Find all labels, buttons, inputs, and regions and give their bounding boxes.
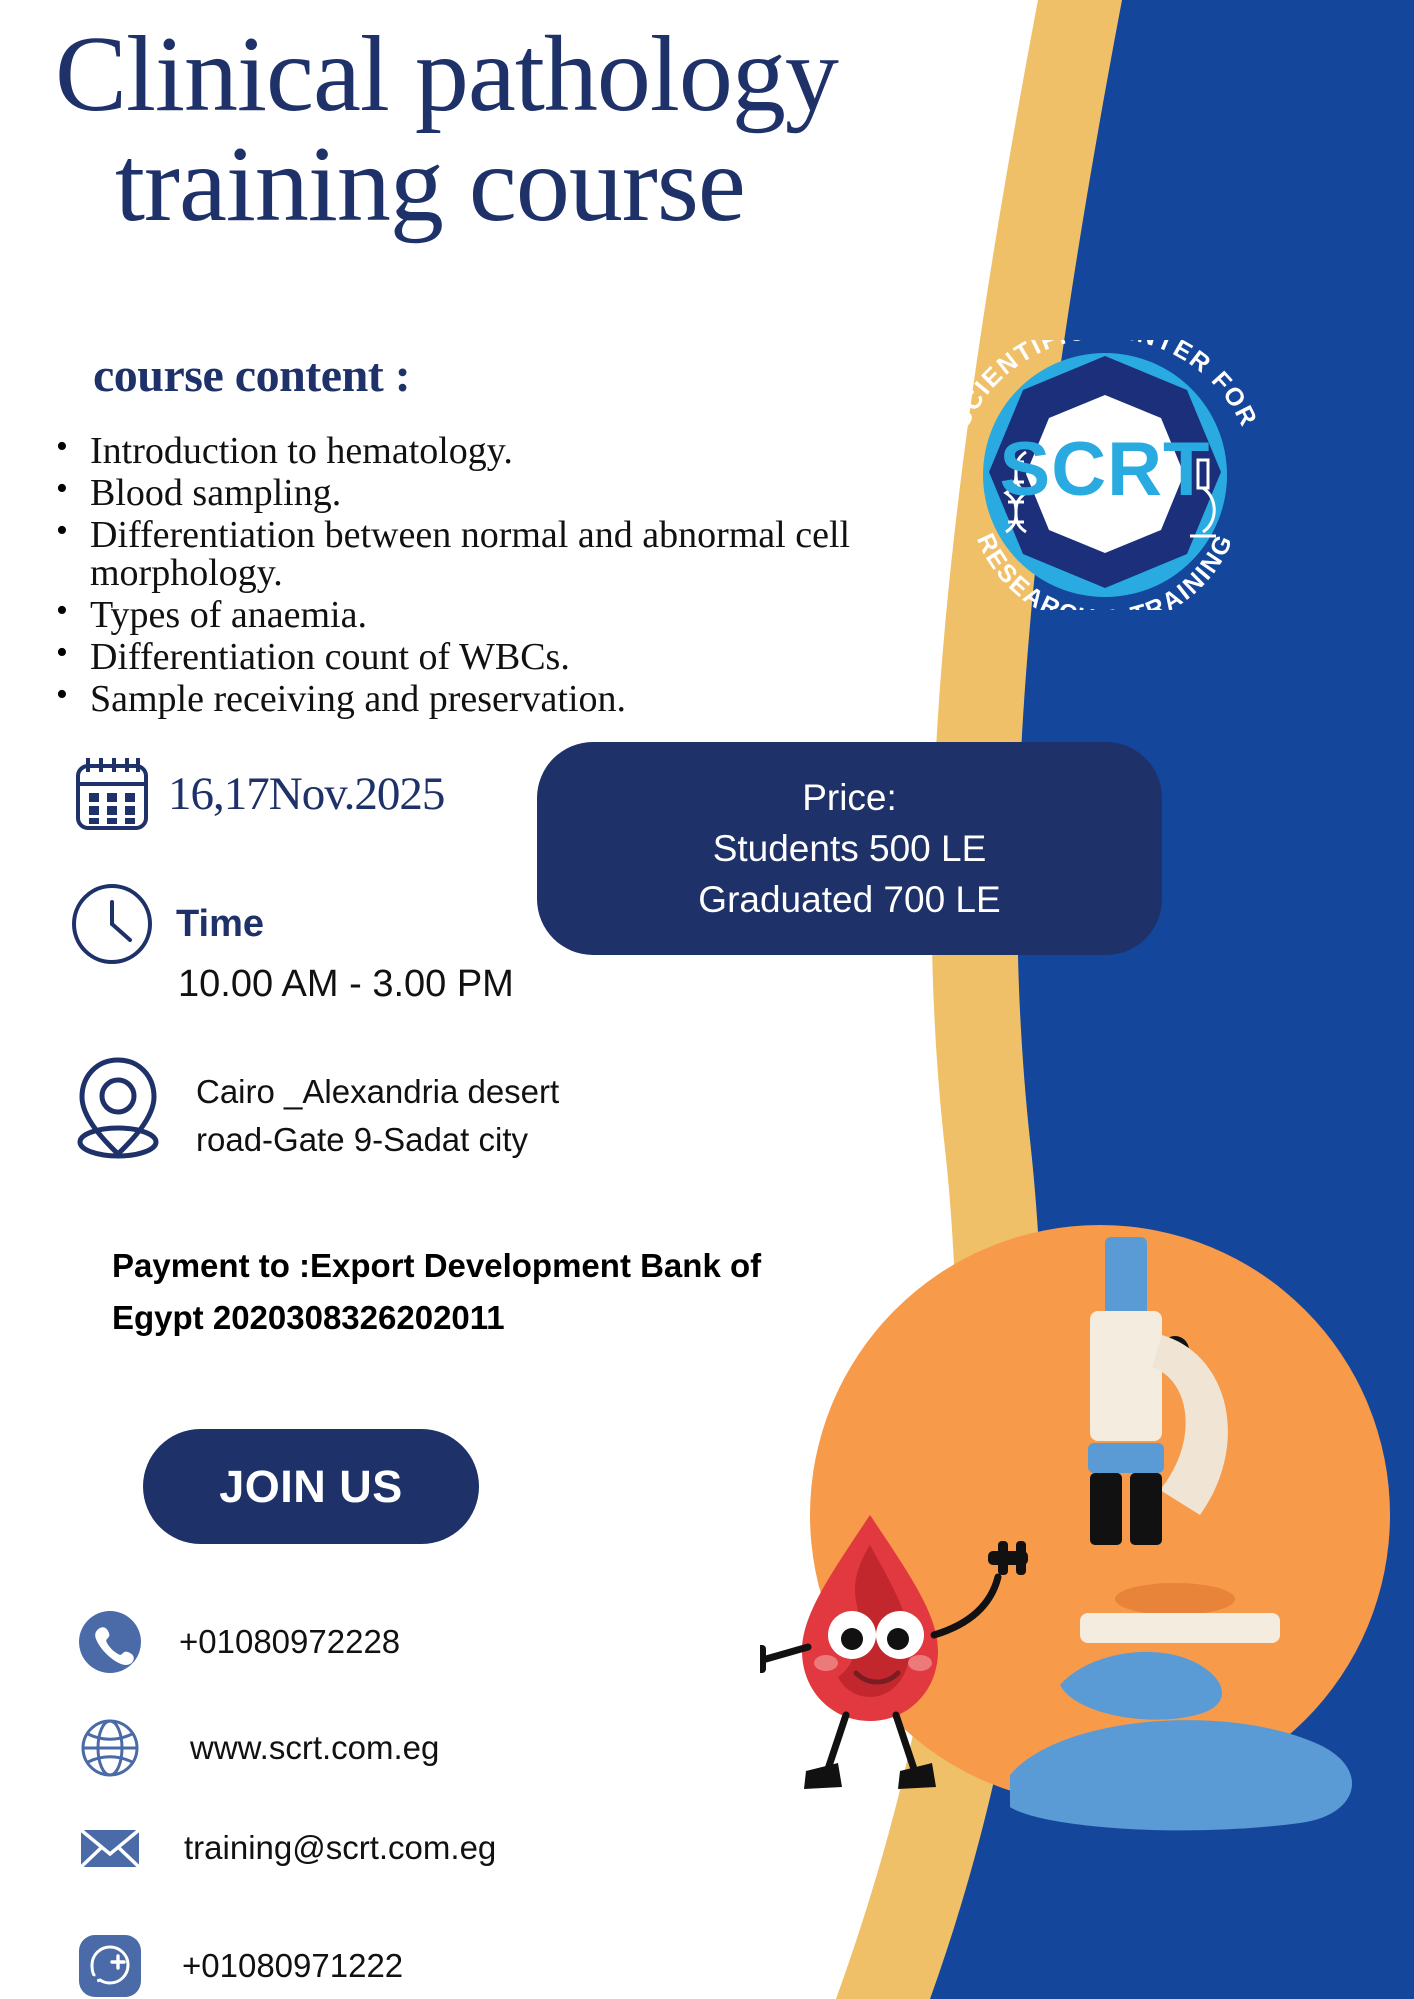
clock-icon bbox=[68, 880, 156, 968]
join-us-button[interactable]: JOIN US bbox=[143, 1429, 479, 1544]
envelope-icon bbox=[78, 1816, 142, 1880]
contact-row-email[interactable]: training@scrt.com.eg bbox=[78, 1801, 598, 1895]
contact-list: +01080972228 www.scrt.com.eg training@ bbox=[78, 1595, 598, 1999]
title-line-2: training course bbox=[55, 130, 1115, 240]
poster-root: Clinical pathology training course cours… bbox=[0, 0, 1414, 1999]
list-item: Differentiation count of WBCs. bbox=[48, 638, 868, 677]
payment-line-1: Payment to :Export Development Bank of bbox=[112, 1240, 872, 1292]
list-item: Types of anaemia. bbox=[48, 596, 868, 635]
contact-row-website[interactable]: www.scrt.com.eg bbox=[78, 1701, 598, 1795]
time-label: Time bbox=[176, 903, 264, 946]
whatsapp-icon bbox=[78, 1934, 142, 1998]
course-content-list: Introduction to hematology. Blood sampli… bbox=[48, 432, 868, 721]
price-heading: Price: bbox=[802, 772, 897, 823]
globe-icon bbox=[78, 1716, 142, 1780]
phone-icon bbox=[78, 1610, 142, 1674]
price-graduated: Graduated 700 LE bbox=[698, 874, 1000, 925]
contact-value: training@scrt.com.eg bbox=[184, 1829, 496, 1867]
location-row: Cairo _Alexandria desert road-Gate 9-Sad… bbox=[70, 1052, 559, 1164]
list-item: Sample receiving and preservation. bbox=[48, 680, 868, 719]
scrt-logo: SCIENTIFIC CENTER FOR RESEARCH & TRAININ… bbox=[910, 340, 1300, 610]
page-title: Clinical pathology training course bbox=[55, 20, 1115, 240]
course-content-heading: course content : bbox=[93, 348, 410, 403]
location-text: Cairo _Alexandria desert road-Gate 9-Sad… bbox=[196, 1068, 559, 1164]
list-item: Introduction to hematology. bbox=[48, 432, 868, 471]
payment-info: Payment to :Export Development Bank of E… bbox=[112, 1240, 872, 1344]
map-pin-icon bbox=[70, 1052, 166, 1162]
price-box: Price: Students 500 LE Graduated 700 LE bbox=[537, 742, 1162, 955]
logo-acronym: SCRT bbox=[1000, 427, 1211, 512]
microscope-illustration bbox=[760, 1215, 1400, 1895]
location-line-2: road-Gate 9-Sadat city bbox=[196, 1116, 559, 1164]
list-item: Differentiation between normal and abnor… bbox=[48, 516, 868, 594]
contact-value: +01080971222 bbox=[182, 1947, 403, 1985]
location-line-1: Cairo _Alexandria desert bbox=[196, 1068, 559, 1116]
contact-value: +01080972228 bbox=[179, 1623, 400, 1661]
time-value: 10.00 AM - 3.00 PM bbox=[178, 963, 514, 1006]
calendar-icon bbox=[70, 752, 154, 836]
price-students: Students 500 LE bbox=[713, 823, 987, 874]
date-row: 16,17Nov.2025 bbox=[70, 752, 444, 836]
list-item: Blood sampling. bbox=[48, 474, 868, 513]
payment-line-2: Egypt 2020308326202011 bbox=[112, 1292, 872, 1344]
date-value: 16,17Nov.2025 bbox=[168, 767, 444, 821]
contact-row-whatsapp[interactable]: +01080971222 bbox=[78, 1919, 598, 1999]
time-row: Time bbox=[68, 880, 264, 968]
title-line-1: Clinical pathology bbox=[55, 15, 838, 134]
contact-value: www.scrt.com.eg bbox=[190, 1729, 439, 1767]
contact-row-phone[interactable]: +01080972228 bbox=[78, 1595, 598, 1689]
